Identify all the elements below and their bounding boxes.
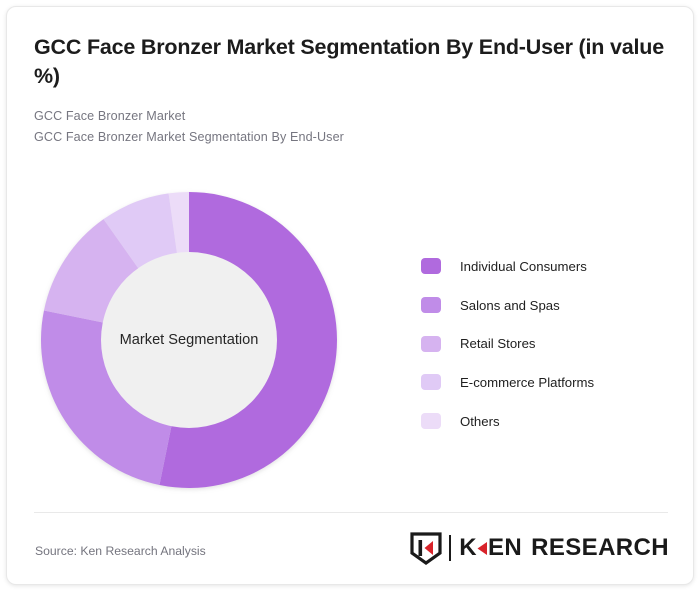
legend-item[interactable]: Salons and Spas: [421, 286, 679, 325]
brand-red-triangle-icon: [475, 540, 488, 557]
legend-item[interactable]: Retail Stores: [421, 324, 679, 363]
footer-divider: [34, 512, 668, 513]
donut-chart: Market Segmentation: [35, 186, 343, 494]
brand-letters-en: EN: [488, 536, 522, 560]
logo-separator: [449, 535, 451, 561]
page-title: GCC Face Bronzer Market Segmentation By …: [34, 33, 664, 90]
legend-swatch-icon: [421, 374, 441, 390]
ken-research-logo: K EN RESEARCH: [409, 531, 669, 565]
legend-item-label: Salons and Spas: [460, 298, 560, 313]
brand-word-research: RESEARCH: [531, 536, 669, 560]
legend-swatch-icon: [421, 258, 441, 274]
legend-item[interactable]: Individual Consumers: [421, 247, 679, 286]
subtitle-line-1: GCC Face Bronzer Market: [34, 106, 664, 127]
legend-item-label: Individual Consumers: [460, 259, 587, 274]
subtitle-block: GCC Face Bronzer Market GCC Face Bronzer…: [34, 106, 664, 148]
brand-wordmark: K EN RESEARCH: [459, 536, 669, 560]
legend-item-label: Others: [460, 414, 500, 429]
source-text: Source: Ken Research Analysis: [35, 544, 206, 558]
ken-research-shield-icon: [409, 531, 443, 565]
chart-header: GCC Face Bronzer Market Segmentation By …: [34, 33, 664, 148]
legend-swatch-icon: [421, 297, 441, 313]
legend-swatch-icon: [421, 336, 441, 352]
subtitle-line-2: GCC Face Bronzer Market Segmentation By …: [34, 127, 664, 148]
chart-legend: Individual ConsumersSalons and SpasRetai…: [421, 247, 679, 440]
legend-item[interactable]: Others: [421, 402, 679, 441]
donut-chart-svg: [35, 186, 343, 494]
legend-item-label: E-commerce Platforms: [460, 375, 594, 390]
chart-card: GCC Face Bronzer Market Segmentation By …: [6, 6, 694, 585]
legend-swatch-icon: [421, 413, 441, 429]
legend-item[interactable]: E-commerce Platforms: [421, 363, 679, 402]
legend-item-label: Retail Stores: [460, 336, 536, 351]
donut-hole: [101, 252, 277, 428]
